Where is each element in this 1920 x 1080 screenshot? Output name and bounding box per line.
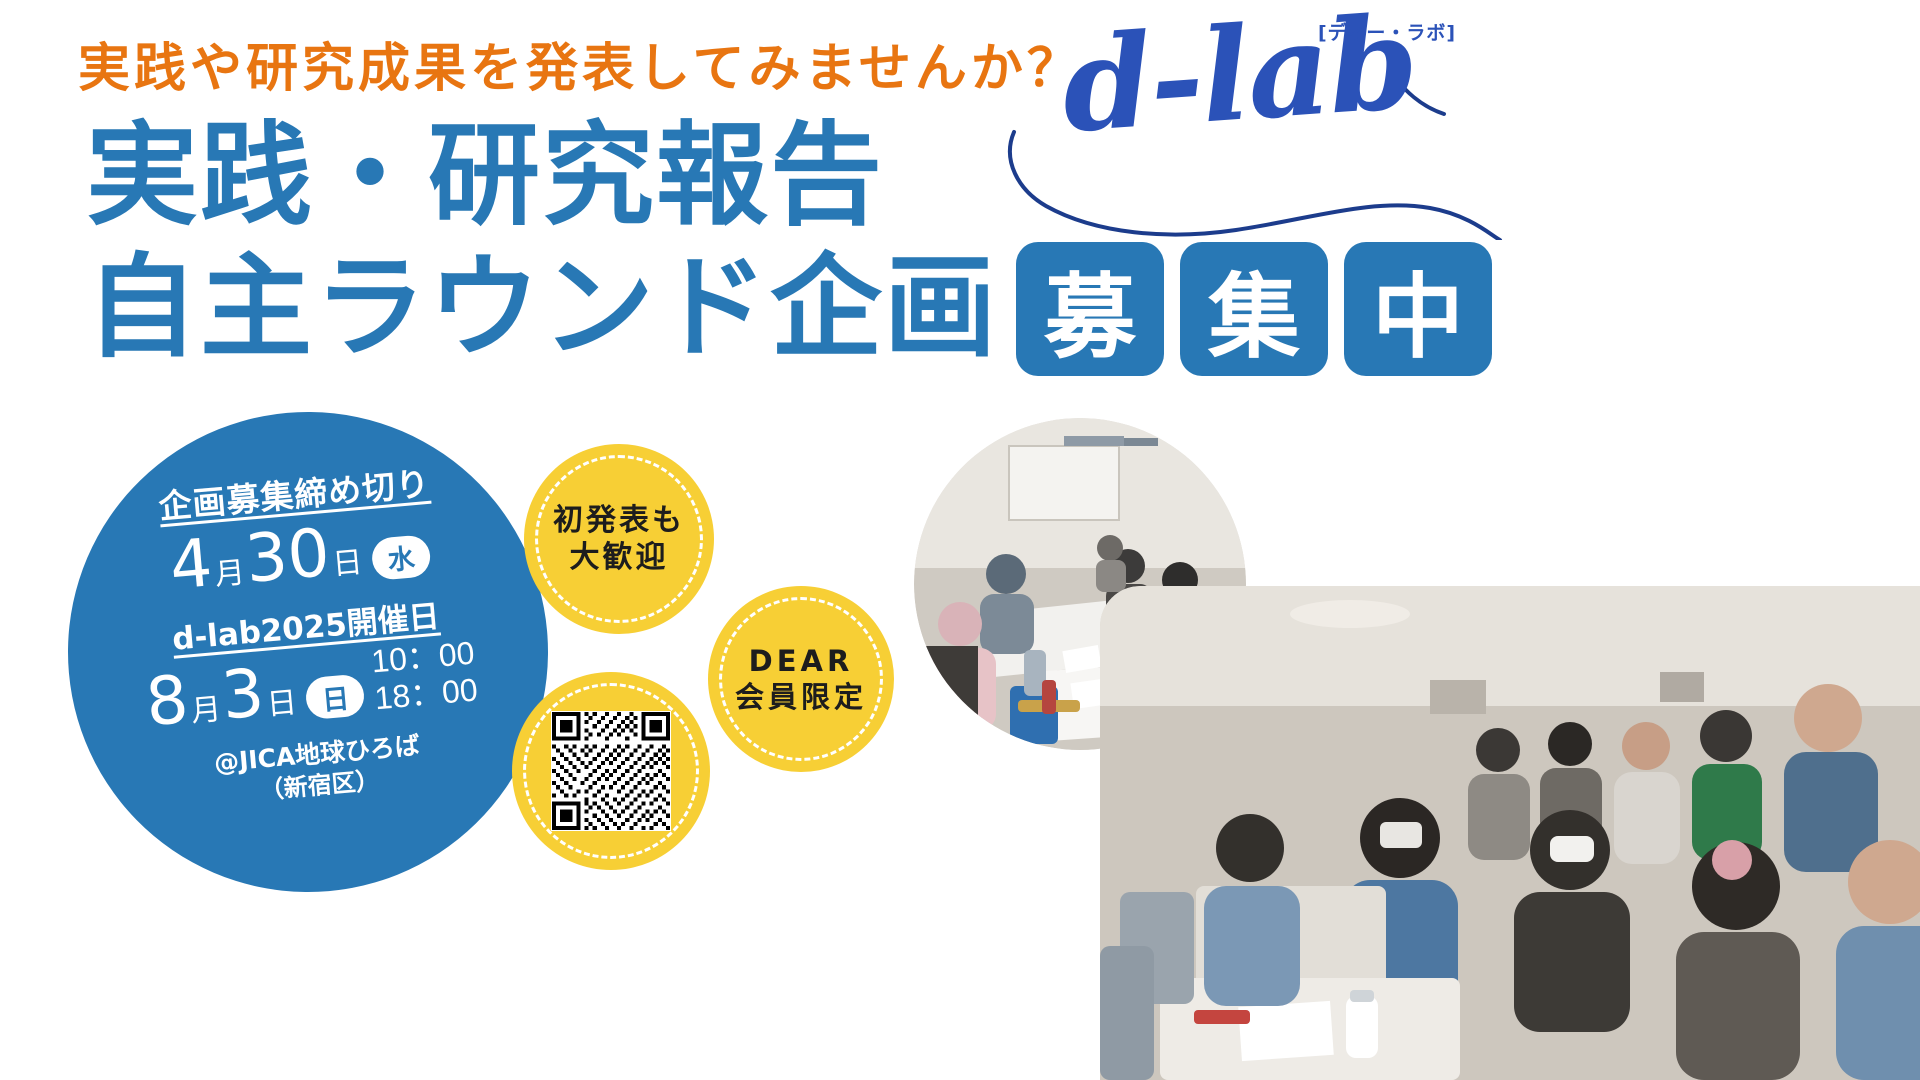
badge-dear-members-only: DEAR 会員限定 xyxy=(708,586,894,772)
headline-line-2: 自主ラウンド企画 xyxy=(86,242,998,374)
badge-first-presentation: 初発表も 大歓迎 xyxy=(524,444,714,634)
event-day-number: 3 xyxy=(219,660,267,729)
event-month-number: 8 xyxy=(143,667,191,736)
dlab-logo: d-lab [ディー・ラボ] xyxy=(1000,0,1520,240)
event-time-range: 10：00 18：00 xyxy=(370,635,479,717)
logo-ruby-text: [ディー・ラボ] xyxy=(1318,18,1456,45)
event-weekday: 日 xyxy=(305,674,366,721)
recruiting-char-3: 中 xyxy=(1344,242,1492,376)
event-month-unit: 月 xyxy=(189,684,223,730)
poster-headline: 実践・研究報告 自主ラウンド企画 xyxy=(86,110,998,374)
recruiting-badge-group: 募 集 中 xyxy=(1016,242,1492,376)
event-info-circle: 企画募集締め切り 4 月 30 日 水 d-lab2025開催日 8 月 3 日… xyxy=(48,392,568,912)
event-day-unit: 日 xyxy=(265,677,299,723)
deadline-month-number: 4 xyxy=(167,530,215,599)
event-date: 8 月 3 日 日 xyxy=(143,651,366,736)
headline-line-1: 実践・研究報告 xyxy=(86,110,998,242)
badge-qr-code[interactable] xyxy=(512,672,710,870)
deadline-weekday: 水 xyxy=(370,534,431,581)
badge-dear-members-only-label: DEAR 会員限定 xyxy=(735,643,867,716)
photo-audience xyxy=(1100,586,1920,1080)
badge-first-presentation-label: 初発表も 大歓迎 xyxy=(553,502,685,577)
poster-canvas: 実践や研究成果を発表してみませんか？ 実践・研究報告 自主ラウンド企画 d-la… xyxy=(0,0,1920,1080)
recruiting-char-2: 集 xyxy=(1180,242,1328,376)
qr-code-icon[interactable] xyxy=(551,711,671,831)
photo-audience-illustration xyxy=(1100,586,1920,1080)
deadline-day-unit: 日 xyxy=(330,537,364,583)
deadline-month-unit: 月 xyxy=(213,547,247,593)
qr-code-matrix xyxy=(552,712,670,830)
recruiting-char-1: 募 xyxy=(1016,242,1164,376)
poster-tagline: 実践や研究成果を発表してみませんか？ xyxy=(78,26,1083,101)
deadline-day-number: 30 xyxy=(243,520,332,593)
event-end-time: 18：00 xyxy=(373,671,479,717)
